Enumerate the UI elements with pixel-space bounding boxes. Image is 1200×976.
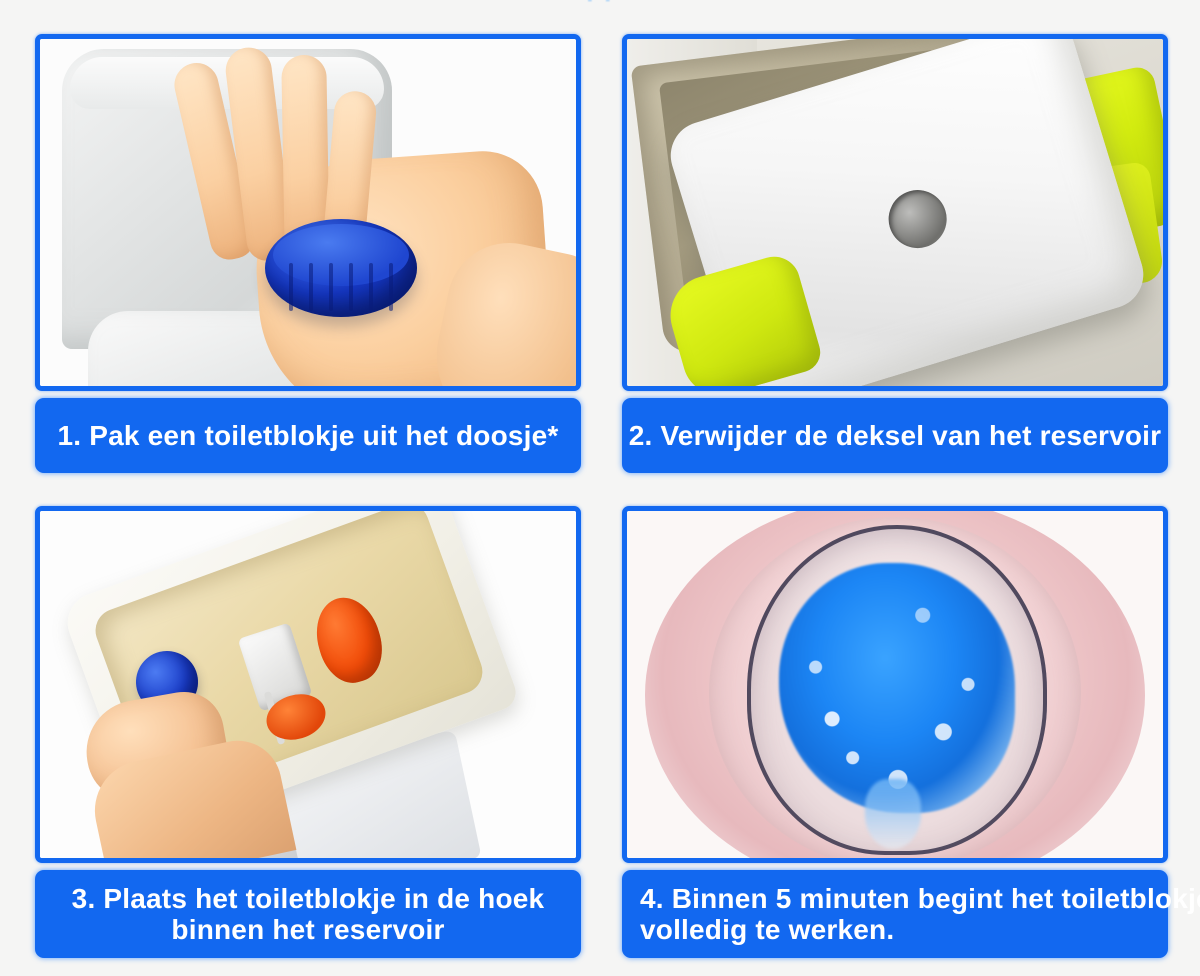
step-3-photo — [35, 506, 581, 863]
step-1-caption-line-1: 1. Pak een toiletblokje uit het doosje* — [57, 420, 558, 451]
step-2-caption: 2. Verwijder de deksel van het reservoir — [622, 398, 1168, 473]
steps-grid: 1. Pak een toiletblokje uit het doosje* — [35, 34, 1168, 958]
step-4-caption: 4. Binnen 5 minuten begint het toiletblo… — [622, 870, 1168, 958]
step-panel-4: 4. Binnen 5 minuten begint het toiletblo… — [622, 506, 1168, 958]
step-panel-1: 1. Pak een toiletblokje uit het doosje* — [35, 34, 581, 473]
step-3-caption-line-1: 3. Plaats het toiletblokje in de hoek — [72, 883, 545, 914]
block-flute — [329, 263, 333, 311]
placing-block-inside-cistern-image — [40, 511, 576, 858]
step-panel-3: 3. Plaats het toiletblokje in de hoek bi… — [35, 506, 581, 958]
step-2-photo — [622, 34, 1168, 391]
block-flute — [309, 263, 313, 311]
gloved-hands-removing-cistern-lid-image — [627, 39, 1163, 386]
block-flute — [349, 263, 353, 311]
step-panel-2: 2. Verwijder de deksel van het reservoir — [622, 34, 1168, 473]
step-2-caption-line-1: 2. Verwijder de deksel van het reservoir — [629, 420, 1162, 451]
blue-toilet-block-shape — [265, 219, 417, 317]
step-4-caption-line-1: 4. Binnen 5 minuten begint het toiletblo… — [640, 883, 1200, 914]
clipped-top-text: · · — [0, 0, 1200, 10]
step-3-caption-line-2: binnen het reservoir — [171, 914, 444, 945]
block-flute — [289, 263, 293, 311]
clipped-top-text-label: · · — [586, 0, 614, 10]
block-flute — [389, 263, 393, 311]
step-1-caption: 1. Pak een toiletblokje uit het doosje* — [35, 398, 581, 473]
step-1-photo — [35, 34, 581, 391]
lid-flush-hole — [881, 183, 953, 255]
step-3-caption: 3. Plaats het toiletblokje in de hoek bi… — [35, 870, 581, 958]
toilet-bowl-blue-water-image — [627, 511, 1163, 858]
step-4-caption-line-2: volledig te werken. — [640, 914, 894, 945]
hand-holding-blue-toilet-block-image — [40, 39, 576, 386]
step-4-photo — [622, 506, 1168, 863]
block-flute — [369, 263, 373, 311]
bowl-drain-shape — [865, 779, 921, 849]
